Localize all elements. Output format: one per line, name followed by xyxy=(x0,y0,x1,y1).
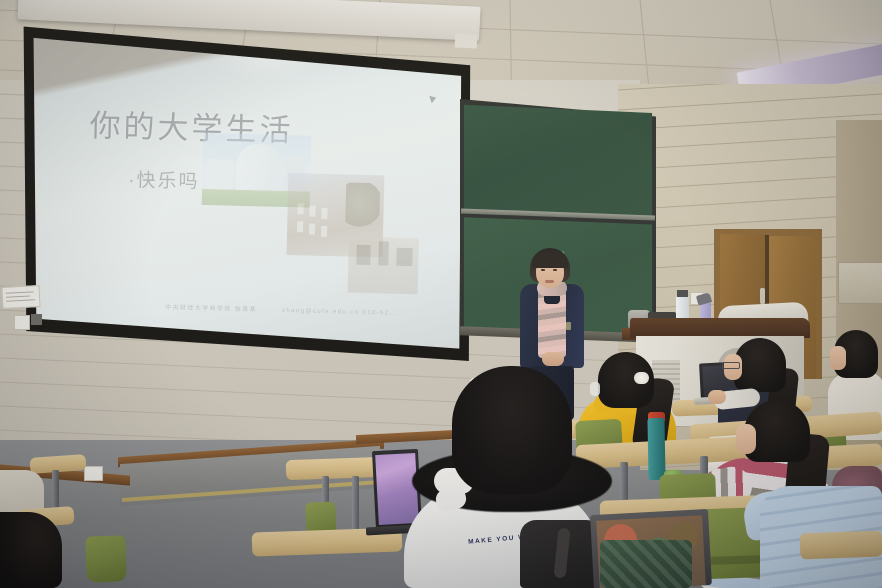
third-photo xyxy=(348,237,419,295)
classroom-photo: 你的大学生活 ·快乐吗 中央财经大学商学院 张某某 zh xyxy=(0,0,882,588)
student-face xyxy=(830,346,846,370)
power-outlet[interactable] xyxy=(84,466,103,481)
teal-thermos[interactable] xyxy=(647,418,665,480)
wall-plate[interactable] xyxy=(31,314,42,325)
bottle-cap xyxy=(677,290,688,297)
patterned-bag[interactable] xyxy=(600,540,692,588)
student-hair xyxy=(452,366,572,494)
presenter-badge xyxy=(566,322,571,330)
podium-top xyxy=(630,318,810,338)
mouse-pointer-icon xyxy=(429,94,437,103)
slide-footer: 中央财经大学商学院 张某某 zhang@cufe.edu.cn 010-62..… xyxy=(165,302,399,317)
slide-footer-left: 中央财经大学商学院 张某某 xyxy=(165,305,257,313)
glasses-icon xyxy=(722,362,740,369)
presenter-bangs xyxy=(532,254,568,268)
projection-screen-bracket xyxy=(455,33,478,48)
notice-sign xyxy=(1,285,40,309)
presenter-hands xyxy=(542,352,564,366)
wall-mounted-panel xyxy=(838,262,882,304)
chalkboard-upper-panel[interactable] xyxy=(462,100,654,218)
desk xyxy=(800,531,882,560)
light-switch[interactable] xyxy=(14,315,30,330)
student-face xyxy=(736,424,756,454)
presenter-eye xyxy=(553,269,557,271)
presenter-eye xyxy=(541,269,545,271)
slide-footer-right: zhang@cufe.edu.cn 010-62... xyxy=(282,308,399,317)
hair-scrunchie xyxy=(634,372,649,384)
door-handle[interactable] xyxy=(760,288,765,304)
slide-bullet: ·快乐吗 xyxy=(128,165,200,194)
chair[interactable] xyxy=(85,535,127,582)
presenter-mouth xyxy=(545,280,554,283)
student-partial-foreground xyxy=(0,512,62,588)
